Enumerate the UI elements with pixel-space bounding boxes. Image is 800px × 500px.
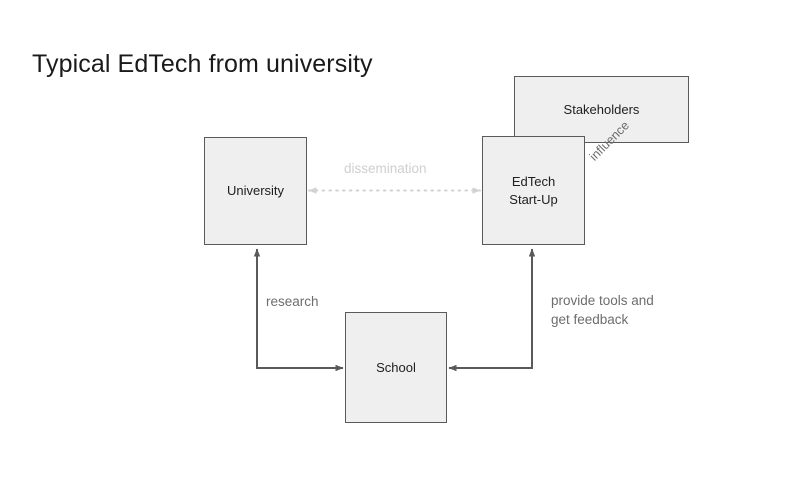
node-university-label: University — [227, 182, 284, 200]
node-school[interactable]: School — [345, 312, 447, 423]
node-stakeholders[interactable]: Stakeholders — [514, 76, 689, 143]
node-edtech-startup[interactable]: EdTech Start-Up — [482, 136, 585, 245]
edge-label-research: research — [266, 292, 319, 311]
node-university[interactable]: University — [204, 137, 307, 245]
edge-label-dissemination: dissemination — [344, 159, 427, 178]
edge-provide-tools — [449, 249, 532, 368]
diagram-connectors-layer — [0, 0, 800, 500]
node-stakeholders-label: Stakeholders — [564, 101, 640, 119]
node-edtech-startup-label: EdTech Start-Up — [509, 173, 557, 208]
diagram-canvas: Typical EdTech from university Universit… — [0, 0, 800, 500]
node-school-label: School — [376, 359, 416, 377]
edge-label-provide-tools: provide tools and get feedback — [551, 291, 654, 329]
